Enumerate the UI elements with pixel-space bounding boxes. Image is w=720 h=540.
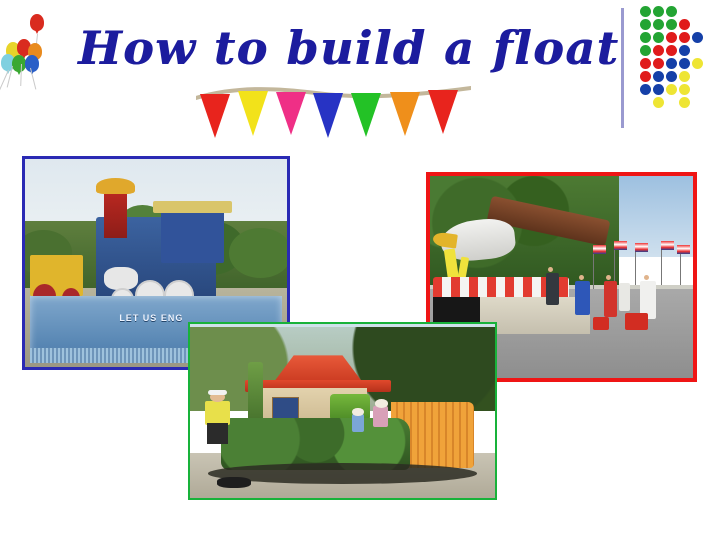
grid-dot-green — [653, 19, 664, 30]
float-banner-text: LET US ENG — [119, 313, 183, 323]
grid-dot-green — [653, 6, 664, 17]
grid-dot-blue — [679, 45, 690, 56]
grid-dot-green — [640, 6, 651, 17]
grid-dot-blue — [666, 58, 677, 69]
grid-dot-green — [666, 19, 677, 30]
grid-dot-green — [640, 32, 651, 43]
pennant-flag-pink — [276, 92, 306, 135]
grid-dot-red — [640, 58, 651, 69]
balloon-cluster-icon — [0, 6, 58, 94]
balloon-red-floating — [30, 14, 44, 31]
grid-dot-green — [653, 32, 664, 43]
grid-dot-green — [666, 6, 677, 17]
grid-dot-yellow — [679, 84, 690, 95]
grid-dot-red — [679, 19, 690, 30]
pennant-flag-red — [200, 94, 230, 138]
presentation-slide: How to build a float — [0, 0, 720, 540]
parade-float-photo-garden[interactable] — [188, 322, 497, 500]
grid-dot-green — [640, 45, 651, 56]
pennant-flag-red-2 — [428, 90, 458, 134]
pennant-flag-orange — [390, 92, 420, 136]
grid-dot-red — [653, 58, 664, 69]
colored-dot-grid-motif — [640, 6, 712, 126]
grid-dot-yellow — [679, 97, 690, 108]
grid-dot-green — [640, 19, 651, 30]
grid-dot-yellow — [653, 97, 664, 108]
pennant-flag-blue — [313, 93, 343, 138]
grid-dot-red — [666, 32, 677, 43]
grid-dot-blue — [640, 84, 651, 95]
grid-dot-blue — [666, 71, 677, 82]
grid-dot-red — [653, 45, 664, 56]
grid-dot-blue — [653, 84, 664, 95]
grid-dot-blue — [692, 32, 703, 43]
balloon-blue — [25, 55, 39, 72]
grid-dot-red — [666, 45, 677, 56]
bunting-banner-decoration — [196, 84, 471, 146]
pennant-flag-green — [351, 93, 381, 137]
grid-dot-yellow — [666, 84, 677, 95]
grid-dot-yellow — [692, 58, 703, 69]
page-title: How to build a float — [78, 24, 598, 72]
vertical-divider — [621, 8, 624, 128]
pennant-flag-yellow — [238, 91, 268, 136]
balloon-green — [12, 55, 26, 72]
balloon-string — [20, 64, 22, 86]
grid-dot-blue — [679, 58, 690, 69]
grid-dot-red — [679, 32, 690, 43]
grid-dot-blue — [653, 71, 664, 82]
photo-image-garden — [190, 324, 495, 498]
grid-dot-yellow — [679, 71, 690, 82]
grid-dot-red — [640, 71, 651, 82]
